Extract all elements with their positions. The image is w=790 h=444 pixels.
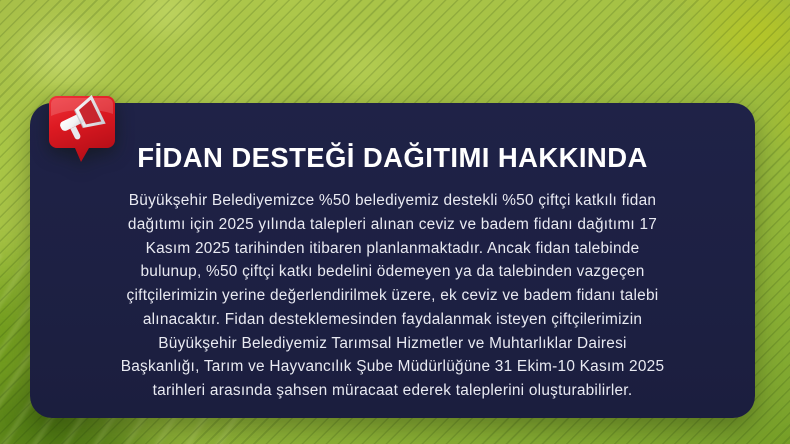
announcement-body-text: Büyükşehir Belediyemizce %50 belediyemiz… <box>74 189 711 402</box>
announcement-poster: FİDAN DESTEĞİ DAĞITIMI HAKKINDA Büyükşeh… <box>0 0 790 444</box>
announcement-card: FİDAN DESTEĞİ DAĞITIMI HAKKINDA Büyükşeh… <box>30 103 755 418</box>
page-title: FİDAN DESTEĞİ DAĞITIMI HAKKINDA <box>74 143 711 173</box>
megaphone-announcement-icon <box>45 92 119 166</box>
card-content: FİDAN DESTEĞİ DAĞITIMI HAKKINDA Büyükşeh… <box>30 103 755 403</box>
